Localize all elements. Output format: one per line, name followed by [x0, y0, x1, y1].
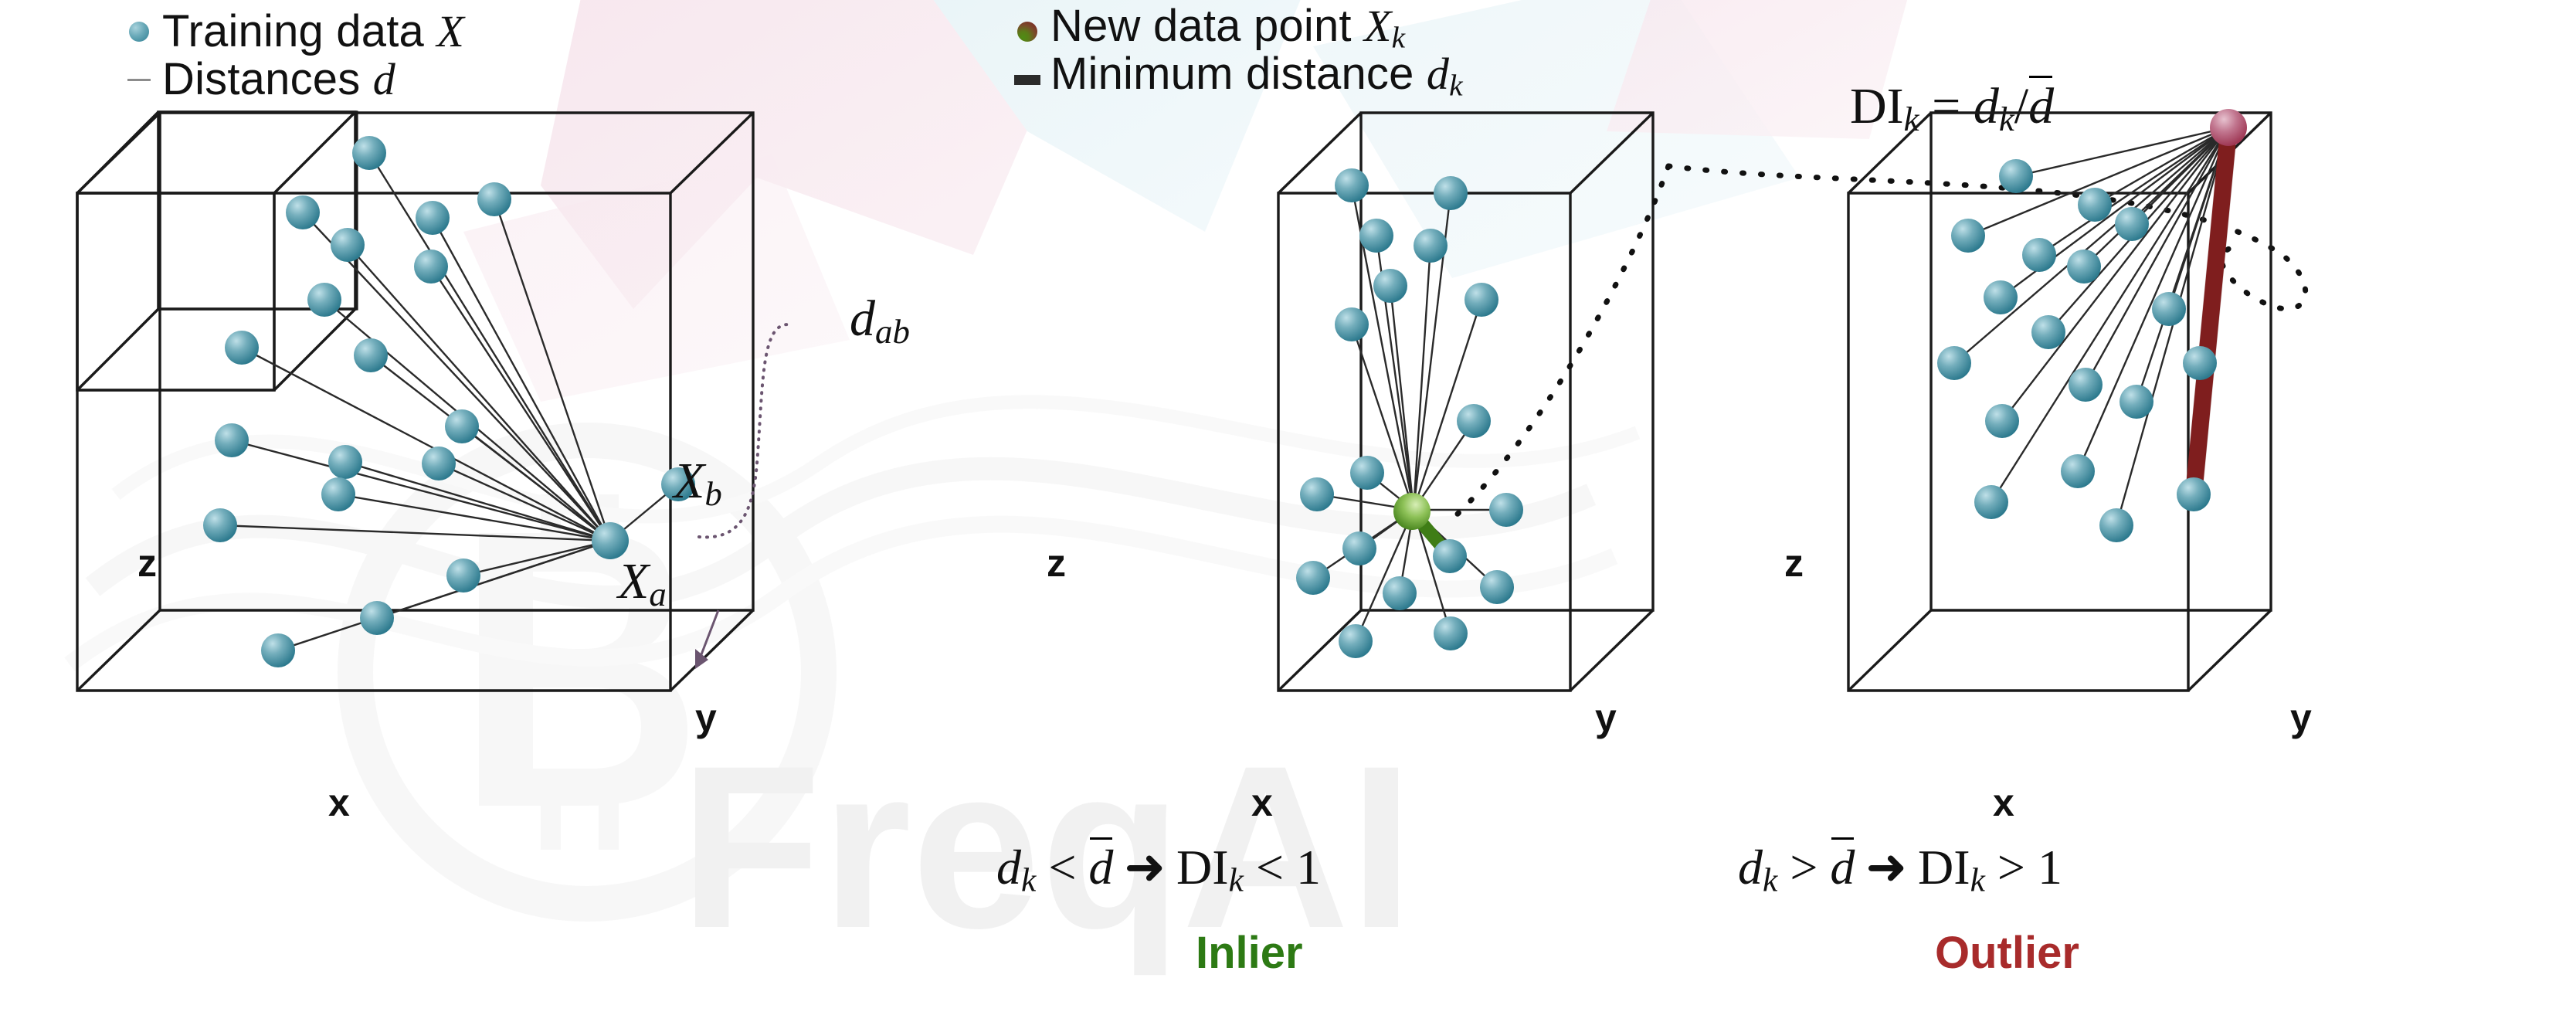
axis-label-y-panel-3: y [2290, 695, 2312, 740]
xa-label: Xa [618, 552, 667, 614]
inlier-dbar: d [1088, 839, 1113, 896]
inlier-value: 1 [1296, 840, 1321, 895]
axis-label-y-panel-2: y [1595, 695, 1617, 740]
outlier-dk-sub: k [1763, 862, 1777, 899]
outlier-formula: dk > d➜DIk > 1 [1738, 838, 2062, 900]
xa-subscript: a [649, 575, 666, 613]
cube-training-full [160, 113, 357, 309]
inlier-formula: dk < d➜DIk < 1 [996, 838, 1321, 900]
outlier-di: DI [1918, 840, 1970, 895]
axis-label-z-panel-3: z [1784, 541, 1804, 586]
dotted-connector-inlier [1452, 166, 1668, 519]
figure-root: FreqAI Training data X Distances d New d… [0, 0, 2576, 1022]
outlier-relation: > [1777, 840, 1830, 895]
axis-label-z-panel-2: z [1047, 541, 1066, 586]
outlier-caption: Outlier [1935, 927, 2079, 979]
inlier-relation-2: < [1244, 840, 1296, 895]
new-point-outlier [2210, 109, 2247, 146]
new-point-inlier [1393, 493, 1431, 530]
training-points-2 [1296, 168, 1523, 658]
xb-subscript: b [704, 474, 721, 513]
outlier-dbar: d [1830, 839, 1855, 896]
axis-label-y-panel-1: y [695, 695, 717, 740]
dab-subscript: ab [875, 312, 910, 351]
dab-label: dab [850, 290, 910, 351]
inlier-dk-sub: k [1021, 862, 1036, 899]
panel-training-final [77, 113, 788, 691]
panel-outlier-final [1848, 109, 2271, 691]
inlier-caption: Inlier [1196, 927, 1303, 979]
panel-inlier-final [1278, 113, 1653, 691]
outlier-relation-2: > [1985, 840, 2038, 895]
axis-label-x-panel-3: x [1993, 780, 2014, 825]
outlier-value: 1 [2038, 840, 2062, 895]
inlier-di-sub: k [1229, 862, 1244, 899]
axis-label-x-panel-2: x [1251, 780, 1273, 825]
inlier-arrow-icon: ➜ [1113, 839, 1176, 895]
axis-label-z-panel-1: z [137, 541, 157, 586]
axis-label-x-panel-1: x [328, 780, 350, 825]
outlier-dk: d [1738, 840, 1763, 895]
outlier-arrow-icon: ➜ [1855, 839, 1918, 895]
xb-label: Xb [674, 452, 722, 514]
inlier-dk: d [996, 840, 1021, 895]
inlier-di: DI [1176, 840, 1229, 895]
outlier-di-sub: k [1970, 862, 1985, 899]
inlier-relation: < [1036, 840, 1088, 895]
